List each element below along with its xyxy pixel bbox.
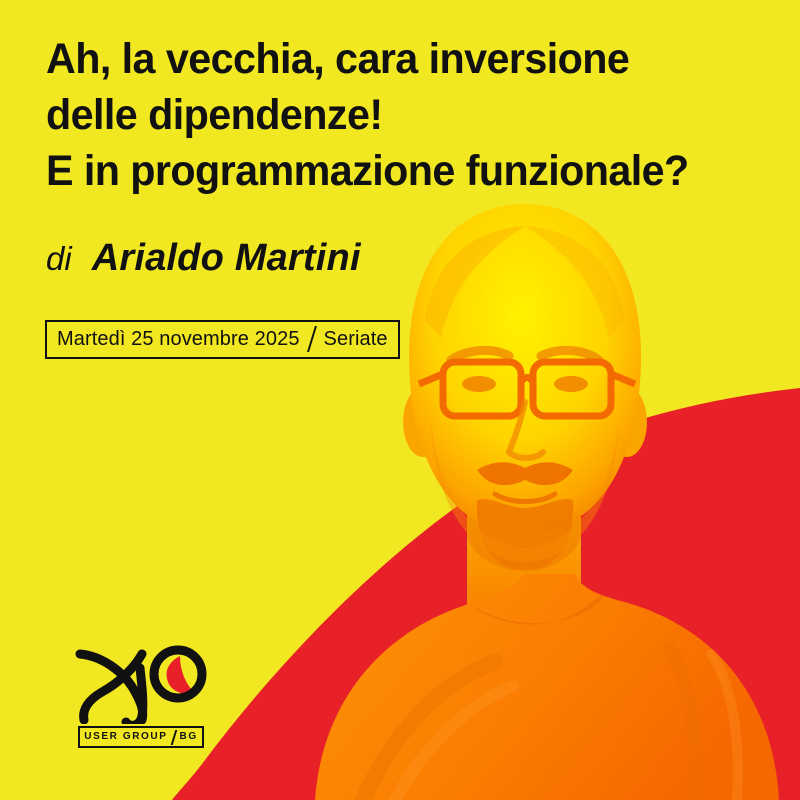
byline-preposition: di xyxy=(46,240,72,277)
event-date-venue-box: Martedì 25 novembre 2025 Seriate xyxy=(45,320,400,359)
logo-tag-right: BG xyxy=(180,732,198,742)
headline-line-1: Ah, la vecchia, cara inversione xyxy=(46,32,756,88)
xp-user-group-logo: USER GROUP BG xyxy=(72,638,212,748)
speaker-name: Arialdo Martini xyxy=(92,237,361,279)
headline-line-3: E in programmazione funzionale? xyxy=(46,144,756,200)
event-date: Martedì 25 novembre 2025 xyxy=(57,328,300,351)
event-venue: Seriate xyxy=(324,328,388,351)
event-poster: Ah, la vecchia, cara inversione delle di… xyxy=(0,0,800,800)
logo-tag-separator-icon xyxy=(170,730,177,745)
logo-tag-left: USER GROUP xyxy=(84,732,167,742)
headline-line-2: delle dipendenze! xyxy=(46,88,756,144)
logo-tagline-box: USER GROUP BG xyxy=(78,726,204,748)
poster-headline: Ah, la vecchia, cara inversione delle di… xyxy=(46,32,756,200)
separator-slash-icon xyxy=(307,326,317,352)
speaker-byline: diArialdo Martini xyxy=(46,237,361,280)
xp-monogram-icon xyxy=(72,638,212,724)
